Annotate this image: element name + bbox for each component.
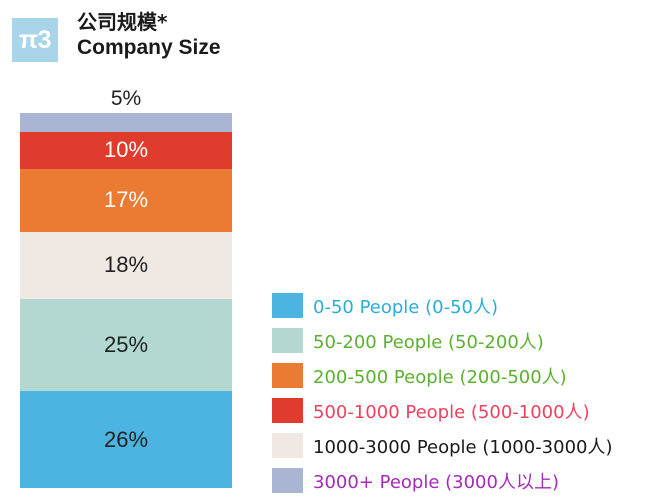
bar-segment[interactable]: 17% bbox=[20, 169, 232, 232]
bar-segment[interactable]: 18% bbox=[20, 232, 232, 299]
bar-segment[interactable]: 10% bbox=[20, 132, 232, 169]
legend-item-label: 200-500 People (200-500人) bbox=[313, 363, 567, 389]
legend-swatch-icon bbox=[272, 433, 303, 458]
legend-swatch-icon bbox=[272, 363, 303, 388]
page-title: 公司规模* Company Size bbox=[77, 10, 221, 61]
brand-logo: π3 bbox=[12, 18, 58, 62]
legend-swatch-icon bbox=[272, 293, 303, 318]
legend-item[interactable]: 500-1000 People (500-1000人) bbox=[272, 393, 613, 428]
bar-segment[interactable]: 25% bbox=[20, 299, 232, 392]
legend-item-label: 500-1000 People (500-1000人) bbox=[313, 398, 590, 424]
legend-item-label: 50-200 People (50-200人) bbox=[313, 328, 544, 354]
legend-item[interactable]: 3000+ People (3000人以上) bbox=[272, 463, 613, 498]
legend-swatch-icon bbox=[272, 468, 303, 493]
callout-value-label: 5% bbox=[96, 88, 156, 110]
brand-logo-text: π3 bbox=[19, 28, 51, 53]
legend-item[interactable]: 1000-3000 People (1000-3000人) bbox=[272, 428, 613, 463]
legend-item-label: 1000-3000 People (1000-3000人) bbox=[313, 433, 613, 459]
infographic-panel: π3 公司规模* Company Size 5% 10%17%18%25%26%… bbox=[0, 0, 670, 498]
legend-item-label: 3000+ People (3000人以上) bbox=[313, 468, 559, 494]
bar-segment-label: 25% bbox=[104, 334, 148, 356]
legend-item[interactable]: 0-50 People (0-50人) bbox=[272, 288, 613, 323]
legend-item[interactable]: 50-200 People (50-200人) bbox=[272, 323, 613, 358]
bar-segment-label: 17% bbox=[104, 189, 148, 211]
bar-segment[interactable]: 26% bbox=[20, 391, 232, 488]
page-title-english: Company Size bbox=[77, 35, 221, 61]
legend-item[interactable]: 200-500 People (200-500人) bbox=[272, 358, 613, 393]
bar-segment[interactable] bbox=[20, 113, 232, 132]
legend-swatch-icon bbox=[272, 328, 303, 353]
page-title-chinese: 公司规模* bbox=[77, 10, 221, 35]
legend-item-label: 0-50 People (0-50人) bbox=[313, 293, 498, 319]
bar-segment-label: 18% bbox=[104, 254, 148, 276]
stacked-bar-chart: 10%17%18%25%26% bbox=[20, 113, 232, 488]
chart-legend: 0-50 People (0-50人)50-200 People (50-200… bbox=[272, 288, 613, 498]
legend-swatch-icon bbox=[272, 398, 303, 423]
bar-segment-label: 26% bbox=[104, 429, 148, 451]
bar-segment-label: 10% bbox=[104, 139, 148, 161]
